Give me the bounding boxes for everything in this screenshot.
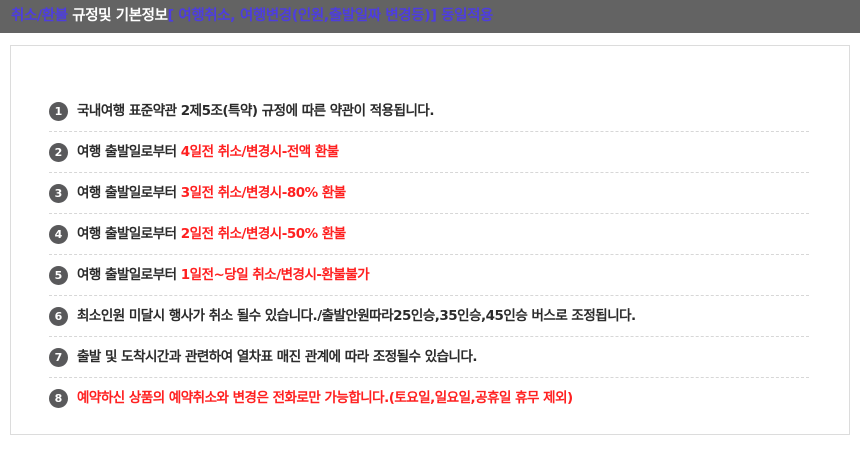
rule-text: 여행 출발일로부터 4일전 취소/변경시-전액 환불 [77,144,339,160]
policy-rule-row: 8예약하신 상품의 예약취소와 변경은 전화로만 가능합니다.(토요일,일요일,… [49,377,809,418]
rule-text: 여행 출발일로부터 3일전 취소/변경시-80% 환불 [77,185,346,201]
rule-text-plain: 최소인원 미달시 행사가 취소 될수 있습니다./출발안원따라25인승,35인승… [77,308,636,324]
rule-number-badge: 3 [49,184,68,203]
page-title-accent-prefix: 취소/환불 [11,8,68,24]
policy-rule-row: 4여행 출발일로부터 2일전 취소/변경시-50% 환불 [49,213,809,254]
rule-text-plain: 여행 출발일로부터 [77,144,181,160]
rule-text: 출발 및 도착시간과 관련하여 열차표 매진 관계에 따라 조정될수 있습니다. [77,349,477,365]
rule-number-badge: 1 [49,102,68,121]
rule-text-emphasis: 4일전 취소/변경시-전액 환불 [181,144,339,160]
policy-rule-row: 6최소인원 미달시 행사가 취소 될수 있습니다./출발안원따라25인승,35인… [49,295,809,336]
rule-text-plain: 여행 출발일로부터 [77,226,181,242]
page-title: 취소/환불 규정및 기본정보[ 여행취소, 여행변경(인원,출발일짜 변경등)]… [11,9,493,24]
rule-text: 여행 출발일로부터 1일전~당일 취소/변경시-환불불가 [77,267,369,283]
policy-panel: 1국내여행 표준약관 2제5조(특약) 규정에 따른 약관이 적용됩니다.2여행… [10,45,850,435]
rule-text: 최소인원 미달시 행사가 취소 될수 있습니다./출발안원따라25인승,35인승… [77,308,636,324]
policy-rule-row: 3여행 출발일로부터 3일전 취소/변경시-80% 환불 [49,172,809,213]
rule-number-badge: 6 [49,307,68,326]
policy-rule-row: 2여행 출발일로부터 4일전 취소/변경시-전액 환불 [49,131,809,172]
rule-text: 예약하신 상품의 예약취소와 변경은 전화로만 가능합니다.(토요일,일요일,공… [77,390,573,406]
rule-text-emphasis: 3일전 취소/변경시-80% 환불 [181,185,346,201]
policy-rule-row: 5여행 출발일로부터 1일전~당일 취소/변경시-환불불가 [49,254,809,295]
rule-text-plain: 출발 및 도착시간과 관련하여 열차표 매진 관계에 따라 조정될수 있습니다. [77,349,477,365]
rule-text: 여행 출발일로부터 2일전 취소/변경시-50% 환불 [77,226,346,242]
rule-text-plain: 여행 출발일로부터 [77,267,181,283]
rule-text-emphasis: 2일전 취소/변경시-50% 환불 [181,226,346,242]
page-title-accent-suffix: [ 여행취소, 여행변경(인원,출발일짜 변경등)] 동일적용 [168,8,493,24]
policy-rule-row: 1국내여행 표준약관 2제5조(특약) 규정에 따른 약관이 적용됩니다. [49,91,809,131]
page-title-plain: 규정및 기본정보 [68,8,168,24]
rule-number-badge: 4 [49,225,68,244]
page-header-bar: 취소/환불 규정및 기본정보[ 여행취소, 여행변경(인원,출발일짜 변경등)]… [0,0,860,33]
rule-number-badge: 5 [49,266,68,285]
rule-text-plain: 국내여행 표준약관 2제5조(특약) 규정에 따른 약관이 적용됩니다. [77,103,434,119]
rule-number-badge: 8 [49,389,68,408]
rule-number-badge: 2 [49,143,68,162]
rule-text-plain: 예약하신 상품의 예약취소와 변경은 전화로만 가능합니다.(토요일,일요일,공… [77,390,573,406]
policy-rules-list: 1국내여행 표준약관 2제5조(특약) 규정에 따른 약관이 적용됩니다.2여행… [49,91,809,418]
rule-number-badge: 7 [49,348,68,367]
rule-text-emphasis: 1일전~당일 취소/변경시-환불불가 [181,267,369,283]
rule-text-plain: 여행 출발일로부터 [77,185,181,201]
rule-text: 국내여행 표준약관 2제5조(특약) 규정에 따른 약관이 적용됩니다. [77,103,434,119]
policy-rule-row: 7출발 및 도착시간과 관련하여 열차표 매진 관계에 따라 조정될수 있습니다… [49,336,809,377]
